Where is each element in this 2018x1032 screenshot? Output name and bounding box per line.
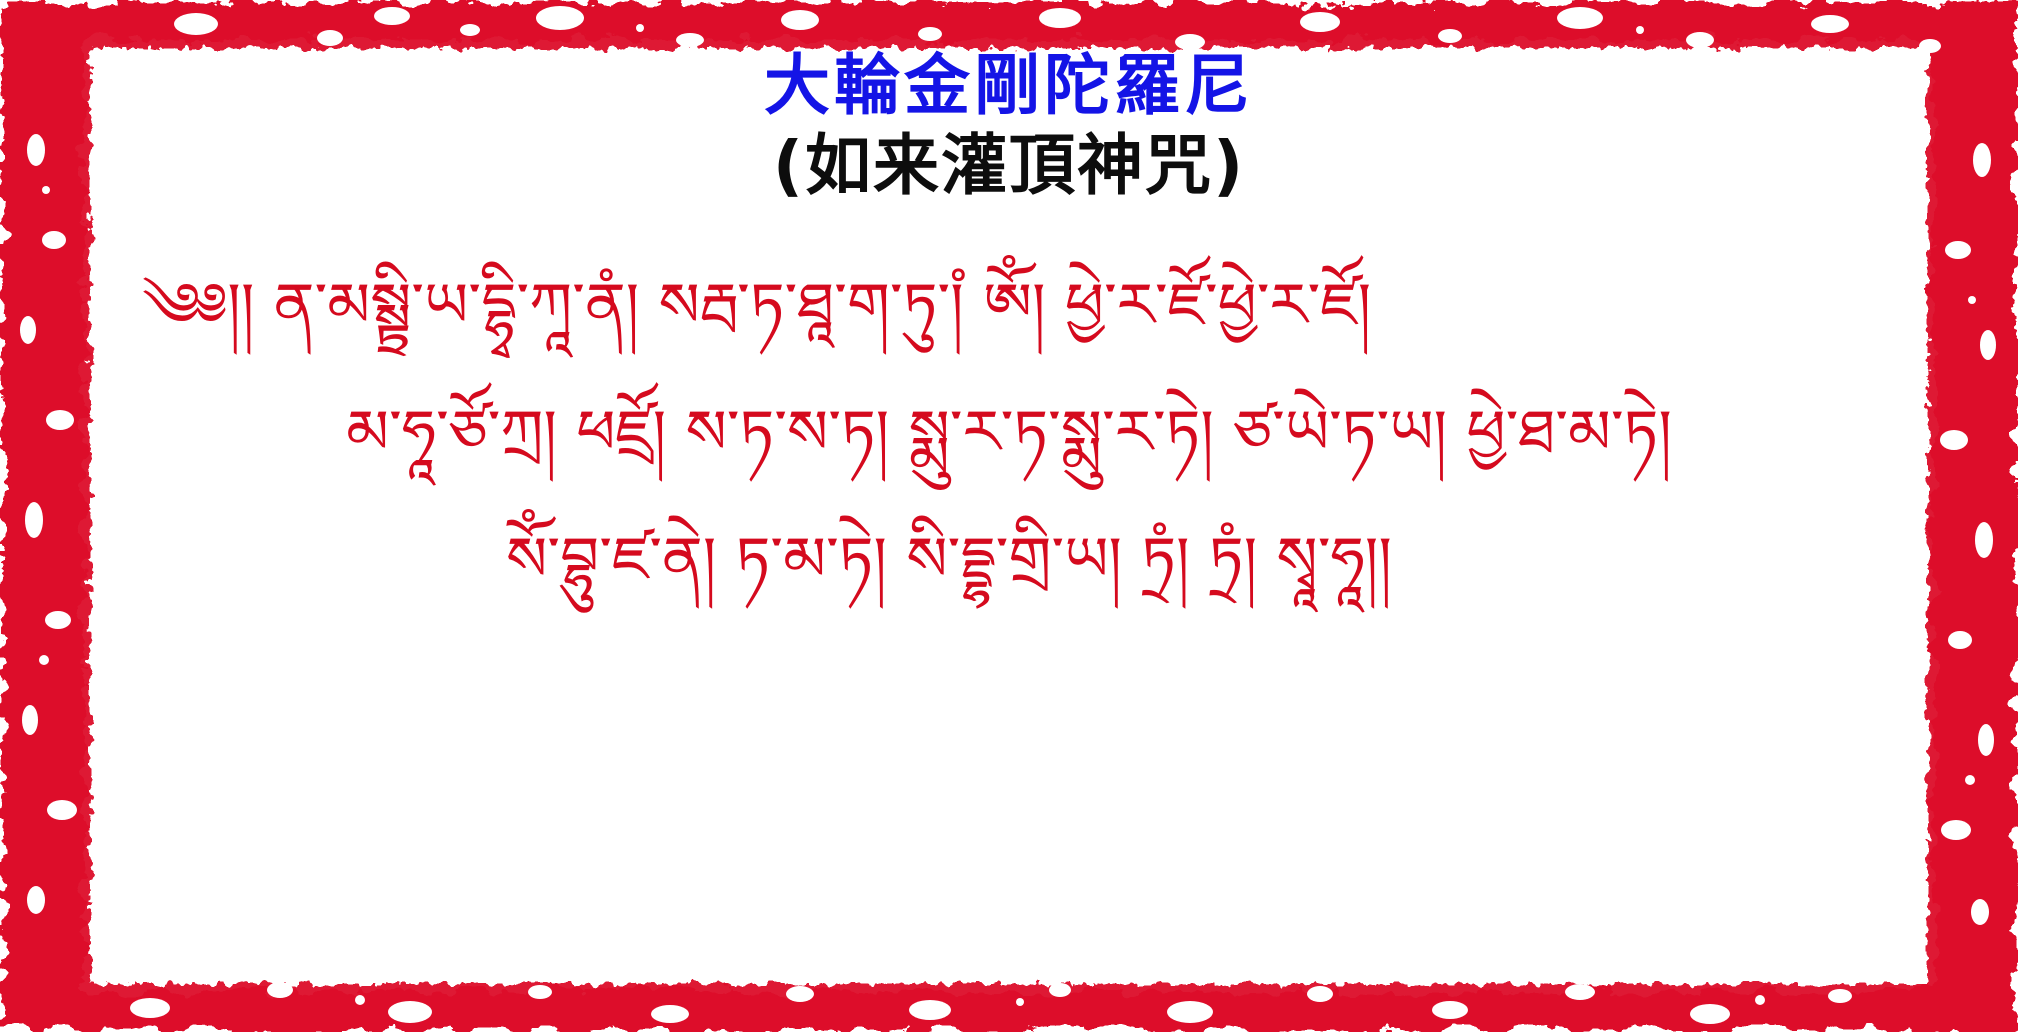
mantra-line-3: སོཾ་བྷུ་ཛ་ནེ། ཏ་མ་ཏེ། སི་དྡྷ་གྲི་ཡ། ཏྲཾ།… — [124, 501, 1894, 620]
mantra-line-1: ༄༅།། ན་མསྶྟྲི་ཡ་དྷྭི་ཀཱ་ནཾ། སརྦ་ཏ་ཐཱ་ག་ཏ… — [124, 247, 1894, 366]
mantra-block: ༄༅།། ན་མསྶྟྲི་ཡ་དྷྭི་ཀཱ་ནཾ། སརྦ་ཏ་ཐཱ་ག་ཏ… — [124, 247, 1894, 620]
page-title: 大輪金剛陀羅尼 — [90, 50, 1928, 121]
card-content-area: 大輪金剛陀羅尼 (如来灌頂神咒) ༄༅།། ན་མསྶྟྲི་ཡ་དྷྭི་ཀཱ… — [90, 44, 1928, 944]
title-block: 大輪金剛陀羅尼 (如来灌頂神咒) — [90, 50, 1928, 203]
dharani-card: 大輪金剛陀羅尼 (如来灌頂神咒) ༄༅།། ན་མསྶྟྲི་ཡ་དྷྭི་ཀཱ… — [0, 0, 2018, 1032]
page-subtitle: (如来灌頂神咒) — [90, 129, 1928, 203]
mantra-line-2: མ་ཧཱ་ཙོ་ཀྲ། ཕཛྲོ། ས་ཏ་ས་ཏ། སྨུ་ར་ཏ་སྨུ་ར… — [124, 374, 1894, 493]
